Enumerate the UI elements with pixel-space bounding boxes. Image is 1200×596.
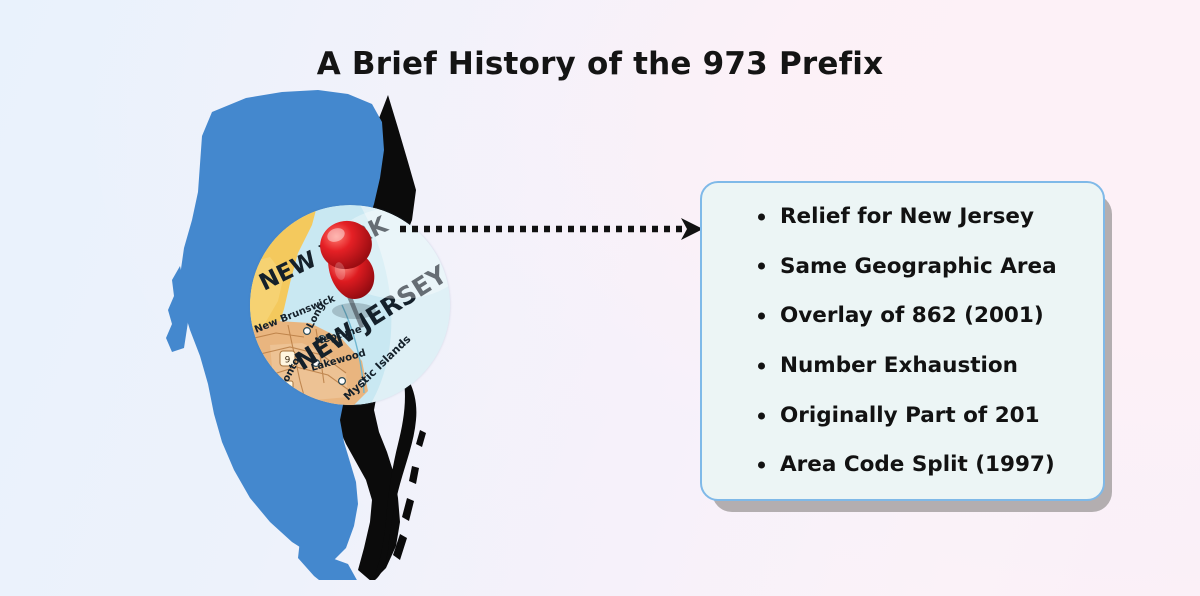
list-item-label: Area Code Split (1997) — [780, 452, 1055, 477]
bullet-marker-icon — [758, 313, 765, 320]
list-item-label: Relief for New Jersey — [780, 204, 1034, 229]
bullet-marker-icon — [758, 213, 765, 220]
list-item[interactable]: Number Exhaustion — [758, 354, 1077, 378]
list-item[interactable]: Originally Part of 201 — [758, 404, 1077, 428]
infographic-canvas: A Brief History of the 973 Prefix — [0, 0, 1200, 596]
bullet-marker-icon — [758, 362, 765, 369]
history-facts-card: Relief for New Jersey Same Geographic Ar… — [700, 181, 1105, 501]
list-item-label: Originally Part of 201 — [780, 403, 1040, 428]
list-item[interactable]: Same Geographic Area — [758, 255, 1077, 279]
bullet-marker-icon — [758, 412, 765, 419]
list-item-label: Overlay of 862 (2001) — [780, 303, 1044, 328]
history-facts-list: Relief for New Jersey Same Geographic Ar… — [758, 205, 1077, 477]
map-illustration: 9 195 New — [150, 70, 550, 580]
bullet-marker-icon — [758, 263, 765, 270]
list-item-label: Same Geographic Area — [780, 254, 1057, 279]
dotted-arrow-connector — [398, 214, 706, 244]
list-item-label: Number Exhaustion — [780, 353, 1018, 378]
bullet-marker-icon — [758, 462, 765, 469]
list-item[interactable]: Area Code Split (1997) — [758, 453, 1077, 477]
list-item[interactable]: Relief for New Jersey — [758, 205, 1077, 229]
list-item[interactable]: Overlay of 862 (2001) — [758, 304, 1077, 328]
